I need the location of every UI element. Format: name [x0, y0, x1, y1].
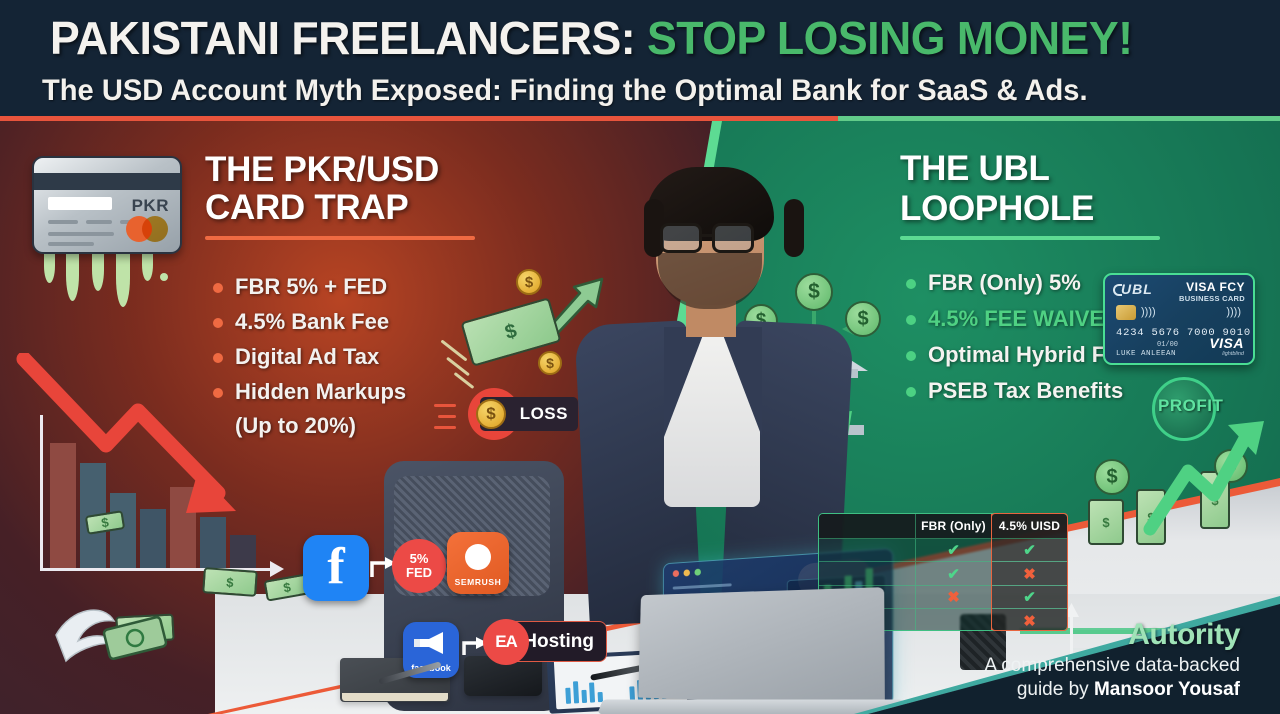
notebook-pages	[342, 693, 448, 701]
laptop-screen	[638, 587, 885, 706]
card-product-label: VISA FCY BUSINESS CARD	[1179, 280, 1245, 303]
left-heading-line1: THE PKR/USD	[205, 151, 495, 189]
fed-badge-percent: 5%	[410, 551, 429, 566]
money-with-wings-icon	[50, 599, 170, 669]
table-cell-label	[819, 539, 915, 561]
infographic-poster: PAKISTANI FREELANCERS: STOP LOSING MONEY…	[0, 0, 1280, 714]
contactless-icon: ))))	[1226, 306, 1241, 318]
semrush-glyph	[465, 544, 491, 570]
page-subtitle: The USD Account Myth Exposed: Finding th…	[42, 72, 1235, 110]
facebook-icon[interactable]: f	[303, 535, 369, 601]
table-cell-cross: ✖	[991, 609, 1067, 631]
semrush-icon[interactable]: SEMRUSH	[447, 532, 509, 594]
card-drip	[116, 249, 130, 307]
left-heading-underline	[205, 236, 475, 240]
dollar-coin-icon: $	[538, 351, 562, 375]
table-header-blank	[819, 514, 915, 538]
glasses-bridge	[702, 234, 714, 237]
card-detail-line	[48, 242, 94, 246]
right-heading-underline	[900, 236, 1160, 240]
table-cell-check: ✔	[915, 562, 991, 584]
title-part-green: STOP LOSING MONEY!	[647, 12, 1132, 64]
brand-tagline: A comprehensive data-backed guide by Man…	[984, 654, 1240, 702]
pkr-card-graphic: PKR	[32, 156, 182, 254]
tagline-line1: A comprehensive data-backed	[984, 655, 1240, 676]
table-header-row: FBR (Only) 4.5% UISD	[819, 514, 1067, 539]
glasses-lens-left	[660, 223, 702, 253]
dollar-bill-icon	[202, 567, 258, 597]
right-heading-line2: LOOPHOLE	[900, 189, 1200, 229]
beard	[658, 253, 762, 309]
table-header-usd: 4.5% UISD	[991, 514, 1067, 538]
table-cell-cross: ✖	[991, 562, 1067, 584]
table-cell-check: ✔	[915, 539, 991, 561]
table-cell-blank	[915, 609, 991, 631]
placeholder-text-line	[673, 583, 732, 589]
card-currency-label: PKR	[132, 196, 169, 216]
card-drip	[44, 249, 55, 283]
contactless-icon: ))))	[1141, 306, 1156, 318]
ubl-card-graphic: UBL VISA FCY BUSINESS CARD )))) )))) 423…	[1103, 273, 1255, 365]
glasses-lens-right	[712, 223, 754, 253]
table-cell-check: ✔	[991, 539, 1067, 561]
content-area: PKR THE PKR/USD CARD TRAP FBR 5% + FED 4…	[0, 121, 1280, 714]
card-detail-line	[48, 232, 114, 236]
table-row: ✔ ✖	[819, 562, 1067, 585]
suit-lapel-left	[664, 327, 706, 437]
profit-badge: PROFIT	[1152, 384, 1236, 434]
hair-side-right	[784, 199, 804, 257]
card-emv-chip	[1116, 305, 1136, 320]
tagline-prefix: guide by	[1017, 679, 1094, 700]
semrush-label: SEMRUSH	[447, 577, 509, 587]
card-product-line1: VISA FCY	[1179, 280, 1245, 294]
dollar-coin-icon: $	[1094, 459, 1130, 495]
visa-wordmark: VISA	[1209, 335, 1244, 351]
hosting-label: Hosting	[523, 631, 594, 653]
dollar-coin-icon: $	[476, 399, 506, 429]
mastercard-icon	[126, 216, 168, 242]
facebook-glyph: f	[303, 535, 369, 601]
visa-network-logo: VISA lightblind	[1209, 335, 1244, 357]
card-detail-line	[86, 220, 112, 224]
title-part-white: PAKISTANI FREELANCERS:	[50, 12, 635, 64]
card-drip	[66, 249, 79, 301]
dollar-bill-icon	[1088, 499, 1124, 545]
list-item: 4.5% Bank Fee	[205, 304, 515, 339]
brand-name: Autority	[1128, 618, 1240, 652]
table-header-fbr: FBR (Only)	[915, 514, 991, 538]
visa-subtext: lightblind	[1209, 351, 1244, 357]
card-drip-droplet	[160, 273, 168, 281]
table-row: ✔ ✔	[819, 539, 1067, 562]
card-magnetic-stripe	[34, 173, 180, 190]
window-dot-green	[694, 569, 700, 576]
laptop	[600, 591, 900, 714]
header-accent-right	[838, 116, 1280, 121]
list-item: FBR 5% + FED	[205, 269, 515, 304]
list-item: Digital Ad Tax	[205, 339, 515, 374]
window-dot-red	[673, 570, 679, 577]
table-cell-label	[819, 562, 915, 584]
dollar-coin-icon: $	[516, 269, 542, 295]
loss-badge: LOSS $	[468, 391, 580, 437]
hosting-icon: EA	[483, 619, 529, 665]
fed-badge-label: FED	[406, 565, 432, 580]
page-title: PAKISTANI FREELANCERS: STOP LOSING MONEY…	[50, 10, 1214, 68]
profit-label: PROFIT	[1158, 396, 1242, 416]
fed-tax-badge: 5% FED	[392, 539, 446, 593]
left-heading-line2: CARD TRAP	[205, 189, 495, 227]
right-heading: THE UBL LOOPHOLE	[900, 149, 1200, 240]
card-expiry: 01/00	[1157, 341, 1178, 349]
suit-lapel-right	[720, 327, 762, 437]
window-dot-yellow	[684, 569, 690, 576]
card-detail-line	[48, 220, 78, 224]
table-cell-cross: ✖	[915, 586, 991, 608]
megaphone-icon	[413, 630, 449, 656]
header-banner: PAKISTANI FREELANCERS: STOP LOSING MONEY…	[0, 0, 1280, 120]
card-holder-name: LUKE ANLEEAN	[1116, 350, 1176, 358]
card-product-line2: BUSINESS CARD	[1179, 294, 1245, 303]
right-heading-line1: THE UBL	[900, 149, 1200, 189]
card-drip	[92, 249, 104, 291]
tagline-author: Mansoor Yousaf	[1094, 679, 1240, 700]
left-heading: THE PKR/USD CARD TRAP	[205, 151, 495, 240]
ubl-bank-name: UBL	[1121, 281, 1153, 297]
ubl-logo: UBL	[1113, 281, 1153, 297]
table-cell-check: ✔	[991, 586, 1067, 608]
card-signature-strip	[48, 197, 112, 210]
header-accent-left	[0, 116, 838, 121]
